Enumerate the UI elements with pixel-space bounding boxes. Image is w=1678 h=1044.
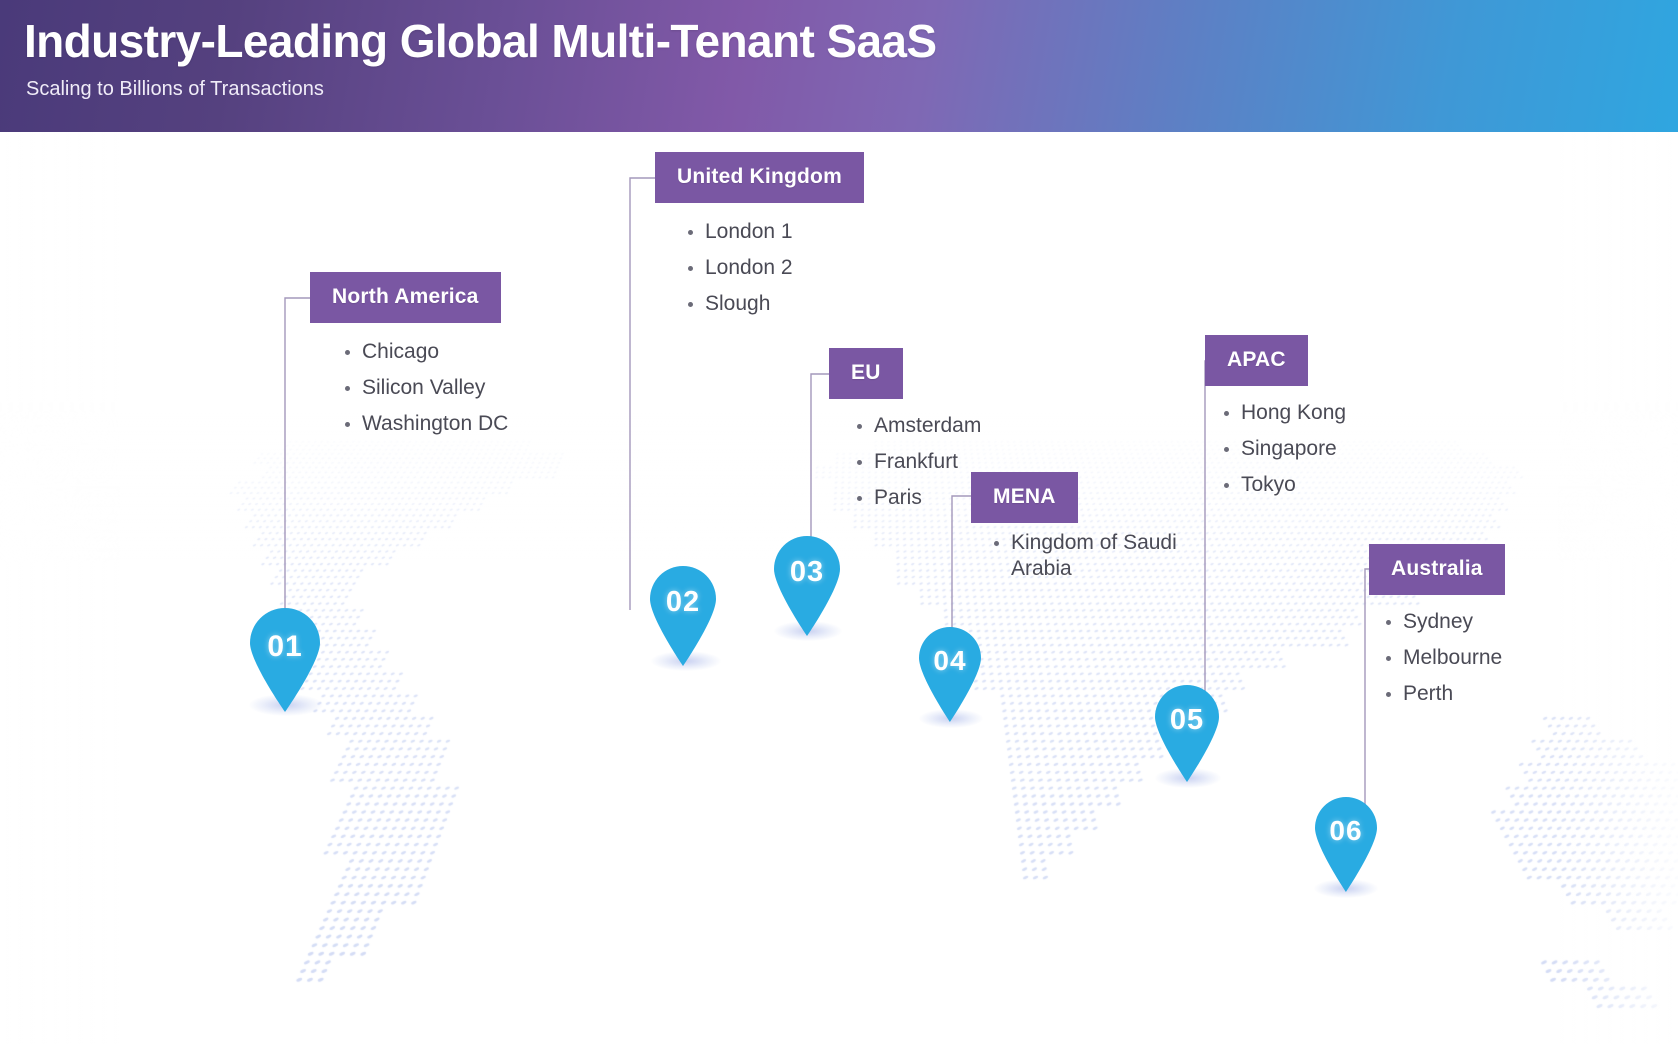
region-chip-north-america[interactable]: North America [310,272,501,323]
region-city-list-north-america: Chicago Silicon Valley Washington DC [340,334,508,442]
region-city-list-united-kingdom: London 1 London 2 Slough [683,214,793,322]
pin-number-label: 01 [246,630,324,664]
list-item: Chicago [340,334,508,370]
list-item: Sydney [1381,604,1502,640]
map-pin-eu[interactable]: 03 [770,532,844,636]
pin-number-label: 06 [1311,815,1381,847]
list-item: Paris [852,480,981,516]
list-item: London 2 [683,250,793,286]
region-chip-mena[interactable]: MENA [971,472,1078,523]
region-chip-united-kingdom[interactable]: United Kingdom [655,152,864,203]
pin-number-label: 05 [1151,704,1223,737]
map-pin-united-kingdom[interactable]: 02 [646,562,720,666]
page-subtitle: Scaling to Billions of Transactions [26,78,324,101]
list-item: Frankfurt [852,444,981,480]
list-item: Hong Kong [1219,395,1346,431]
map-pin-north-america[interactable]: 01 [246,604,324,712]
region-city-list-australia: Sydney Melbourne Perth [1381,604,1502,712]
map-pin-mena[interactable]: 04 [915,623,985,722]
region-chip-australia[interactable]: Australia [1369,544,1505,595]
region-chip-eu[interactable]: EU [829,348,903,399]
list-item: Washington DC [340,406,508,442]
region-chip-apac[interactable]: APAC [1205,335,1308,386]
list-item: Melbourne [1381,640,1502,676]
page-title: Industry-Leading Global Multi-Tenant Saa… [24,14,937,68]
list-item: Slough [683,286,793,322]
region-city-list-mena: Kingdom of Saudi Arabia [989,530,1201,582]
region-city-list-eu: Amsterdam Frankfurt Paris [852,408,981,516]
list-item: Silicon Valley [340,370,508,406]
region-city-list-apac: Hong Kong Singapore Tokyo [1219,395,1346,503]
map-pin-australia[interactable]: 06 [1311,793,1381,892]
list-item: Kingdom of Saudi Arabia [989,530,1201,582]
list-item: London 1 [683,214,793,250]
list-item: Singapore [1219,431,1346,467]
pin-number-label: 02 [646,586,720,619]
map-pin-apac[interactable]: 05 [1151,681,1223,782]
pin-number-label: 04 [915,645,985,677]
list-item: Tokyo [1219,467,1346,503]
header-banner: Industry-Leading Global Multi-Tenant Saa… [0,0,1678,132]
pin-number-label: 03 [770,556,844,589]
list-item: Amsterdam [852,408,981,444]
list-item: Perth [1381,676,1502,712]
